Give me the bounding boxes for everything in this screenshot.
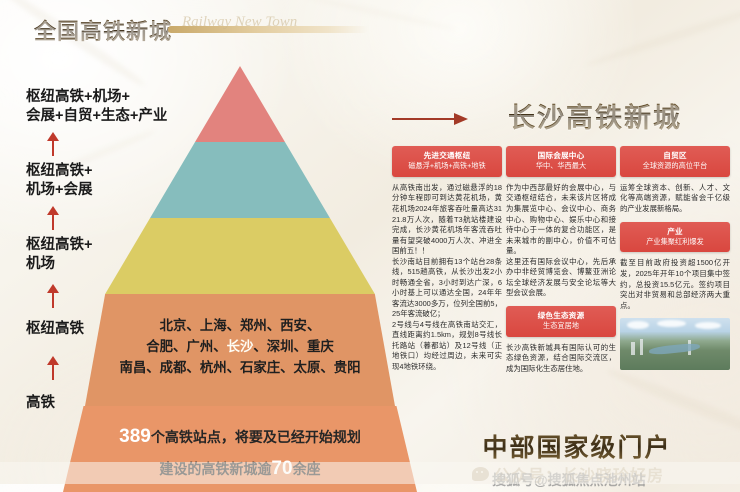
card-subtitle: 磁悬浮+机场+高铁+地铁 — [395, 161, 499, 171]
header-script-ornament: Railway New Town — [182, 14, 372, 36]
poster-canvas: 全国高铁新城 Railway New Town 枢纽高铁+机场+ 会展+自贸+生… — [0, 0, 740, 484]
card-transport-hub: 先进交通枢纽 磁悬浮+机场+高铁+地铁 — [392, 146, 502, 177]
bottom-title: 中部国家级门户 — [452, 428, 702, 464]
marble-vein — [584, 0, 740, 70]
card-title: 产业 — [623, 227, 727, 237]
info-column-3: 自贸区 全球资源的高位平台 运筹全球资本、创新、人才、文化等高端资源，赋能省会千… — [620, 146, 730, 370]
arrow-up-icon — [46, 284, 60, 310]
ladder-item-label: 枢纽高铁+ 机场 — [26, 236, 92, 274]
card-body-text: 运筹全球资本、创新、人才、文化等高端资源，赋能省会千亿级的产业发展新格局。 — [620, 183, 730, 215]
card-title: 绿色生态资源 — [509, 311, 613, 321]
arrow-up-icon — [46, 356, 60, 382]
card-subtitle: 生态宜居地 — [509, 321, 613, 331]
arrow-up-icon — [46, 206, 60, 232]
right-section-title: 长沙高铁新城 — [470, 96, 720, 135]
info-column-1: 先进交通枢纽 磁悬浮+机场+高铁+地铁 从高铁南出发，通过磁悬浮的18分钟车程即… — [392, 146, 502, 372]
l4-after: 、深圳、重庆 — [253, 339, 333, 354]
ladder-item-label: 枢纽高铁+ 机场+会展 — [26, 162, 92, 200]
card-subtitle: 华中、华西最大 — [509, 161, 613, 171]
bottom-bar — [0, 462, 740, 484]
card-free-trade-zone: 自贸区 全球资源的高位平台 — [620, 146, 730, 177]
ladder-item-label: 高铁 — [26, 394, 55, 413]
ladder-item-label: 枢纽高铁 — [26, 320, 84, 339]
card-exhibition-center: 国际会展中心 华中、华西最大 — [506, 146, 616, 177]
city-skyline-photo — [620, 318, 730, 370]
card-subtitle: 全球资源的高位平台 — [623, 161, 727, 171]
arrow-right-icon — [392, 113, 470, 125]
pyramid-level-4-line-1: 北京、上海、郑州、西安、 — [85, 316, 395, 337]
pyramid-level-5-line-1: 389个高铁站点，将要及已经开始规划 — [63, 421, 417, 453]
card-industry: 产业 产业集聚红利爆发 — [620, 222, 730, 253]
card-body-text: 作为中西部最好的会展中心，与交通枢纽结合，未来该片区将成为集展览中心、会议中心、… — [506, 183, 616, 299]
card-title: 国际会展中心 — [509, 151, 613, 161]
arrow-up-icon — [46, 132, 60, 158]
stations-count: 389 — [119, 426, 151, 447]
ladder-item-3: 枢纽高铁+ 机场 — [26, 236, 92, 274]
l4-highlight: 长沙 — [227, 339, 254, 354]
card-subtitle: 产业集聚红利爆发 — [623, 237, 727, 247]
card-body-text: 从高铁南出发，通过磁悬浮的18分钟车程即可到达黄花机场，黄花机场2024年旅客吞… — [392, 183, 502, 372]
card-title: 自贸区 — [623, 151, 727, 161]
pyramid-level-4-line-2: 合肥、广州、长沙、深圳、重庆 — [85, 337, 395, 358]
pyramid-chart: 长沙 上海、长沙 上海、长沙、郑州、石家庄 北京、上海、郑州、西安、 合肥、广州… — [85, 66, 395, 466]
info-columns: 先进交通枢纽 磁悬浮+机场+高铁+地铁 从高铁南出发，通过磁悬浮的18分钟车程即… — [392, 146, 740, 416]
pyramid-level-5-mid: 个高铁站点，将要及已经开始规划 — [151, 429, 361, 445]
info-column-2: 国际会展中心 华中、华西最大 作为中西部最好的会展中心，与交通枢纽结合，未来该片… — [506, 146, 616, 374]
card-body-text-2: 长沙高铁新城具有国际认可的生态绿色资源，结合国际交流区，成为国际化生态居住地。 — [506, 343, 616, 375]
l4-before: 合肥、广州、 — [146, 339, 226, 354]
ladder-item-4: 枢纽高铁 — [26, 320, 84, 339]
card-green-ecology: 绿色生态资源 生态宜居地 — [506, 306, 616, 337]
pyramid-level-4-line-3: 南昌、成都、杭州、石家庄、太原、贵阳 — [85, 358, 395, 379]
pyramid-level-3 — [85, 218, 395, 294]
page-header: 全国高铁新城 — [34, 14, 172, 46]
page-title: 全国高铁新城 — [34, 14, 172, 46]
pyramid-level-1 — [85, 66, 395, 142]
card-body-text-2: 截至目前政府投资超1500亿开发，2025年开年10个项目集中签约，总投资15.… — [620, 258, 730, 311]
pyramid-level-4-label: 北京、上海、郑州、西安、 合肥、广州、长沙、深圳、重庆 南昌、成都、杭州、石家庄… — [85, 316, 395, 378]
ladder-item-2: 枢纽高铁+ 机场+会展 — [26, 162, 92, 200]
ladder-item-5: 高铁 — [26, 394, 55, 413]
card-title: 先进交通枢纽 — [395, 151, 499, 161]
